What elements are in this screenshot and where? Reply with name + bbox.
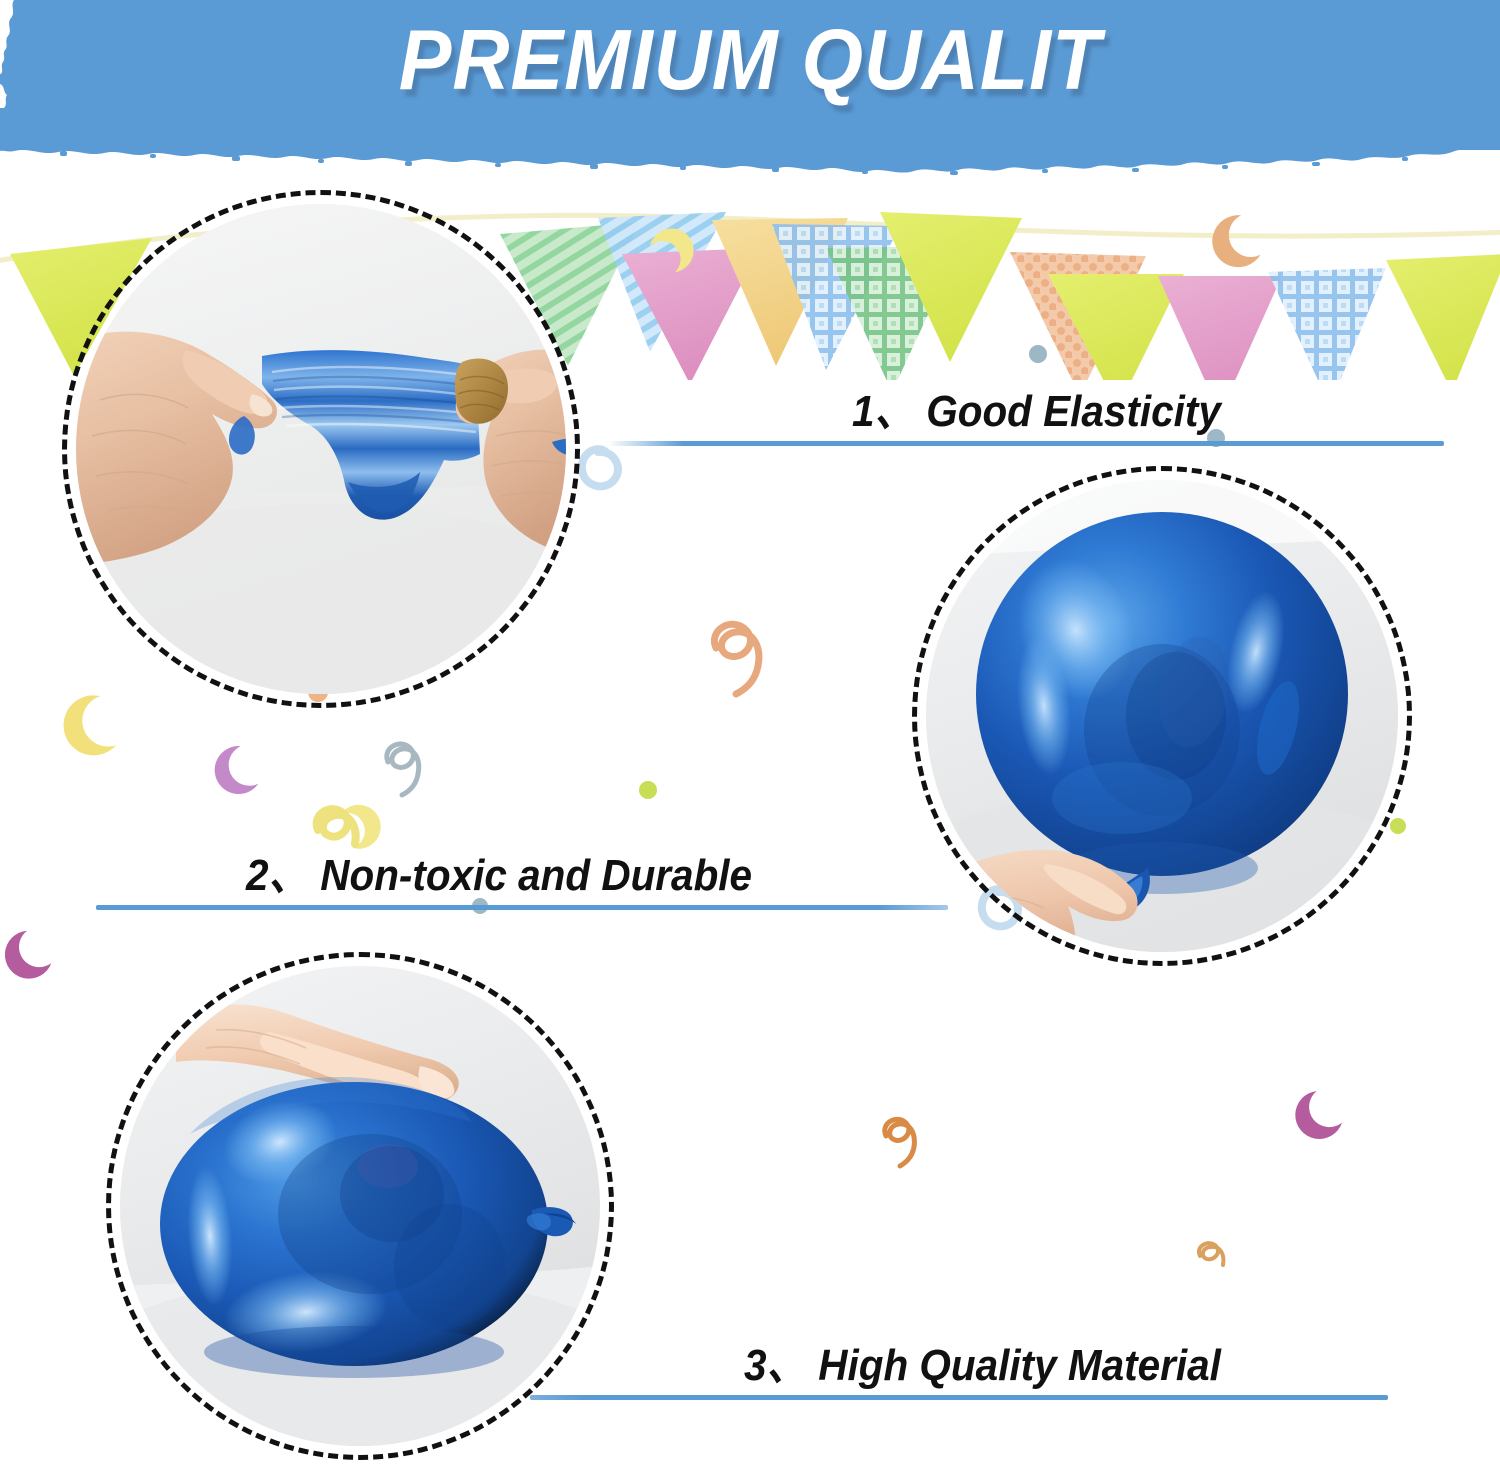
bunting-flag-yg-2	[880, 212, 1022, 362]
confetti-crescent-yellow-2	[648, 225, 697, 276]
stretched-balloon-photo	[76, 204, 566, 694]
bunting-flag-blue-grid-2	[1268, 268, 1386, 380]
bunting-flag-yg-4	[1386, 254, 1500, 380]
page-title: PREMIUM QUALIT	[53, 18, 1448, 105]
feature-2: 2、 Non-toxic and Durable	[246, 852, 796, 900]
confetti-crescent-pink-1	[3, 929, 52, 980]
feature-3-label: 3、 High Quality Material	[744, 1342, 1221, 1390]
bunting-flag-pink-2	[1158, 276, 1282, 380]
bunting-flag-yellow-1	[712, 218, 848, 366]
infographic-page: PREMIUM QUALIT	[0, 0, 1500, 1465]
confetti-dot-gray-2	[1029, 345, 1047, 363]
confetti-spiral-orange-2	[1199, 1243, 1223, 1265]
confetti-spiral-yellow-1	[317, 809, 356, 844]
feature-3-rule	[530, 1395, 1388, 1400]
pressed-balloon-photo	[120, 966, 600, 1446]
feature-1-label: 1、 Good Elasticity	[852, 388, 1221, 436]
confetti-crescent-yellow-1	[56, 688, 129, 763]
confetti-dot-green-1	[639, 781, 657, 799]
bunting-flag-orange-dots	[1010, 252, 1146, 380]
bunting-string-right	[640, 216, 1500, 236]
feature-2-rule	[96, 905, 948, 910]
feature-1: 1、 Good Elasticity	[852, 388, 1253, 436]
confetti-dot-green-2	[1390, 818, 1406, 834]
header-banner: PREMIUM QUALIT	[0, 0, 1500, 150]
bunting-flag-yg-3	[1048, 274, 1184, 380]
bunting-flag-pink-1	[622, 248, 760, 380]
banner-torn-edge	[0, 142, 1500, 176]
confetti-crescent-lilac-1	[211, 742, 264, 797]
feature-3: 3、 High Quality Material	[744, 1342, 1262, 1390]
bunting-flag-blue-grid-1	[772, 224, 900, 370]
confetti-spiral-gray-1	[387, 744, 419, 795]
confetti-crescent-peach-1	[1211, 213, 1264, 268]
confetti-crescent-yellow-3	[333, 800, 385, 853]
feature-2-label: 2、 Non-toxic and Durable	[246, 852, 752, 900]
bunting-flag-blue-stripe	[598, 212, 726, 352]
inflated-balloon-photo	[926, 480, 1398, 952]
banner-left-edge	[0, 0, 26, 150]
bunting-flag-green-grid	[826, 246, 960, 380]
confetti-spiral-blue-1	[582, 449, 618, 486]
confetti-spiral-orange-1	[885, 1119, 915, 1166]
confetti-crescent-pink-2	[1293, 1089, 1344, 1142]
feature-1-rule	[608, 441, 1444, 446]
confetti-spiral-peach-1	[714, 624, 758, 694]
